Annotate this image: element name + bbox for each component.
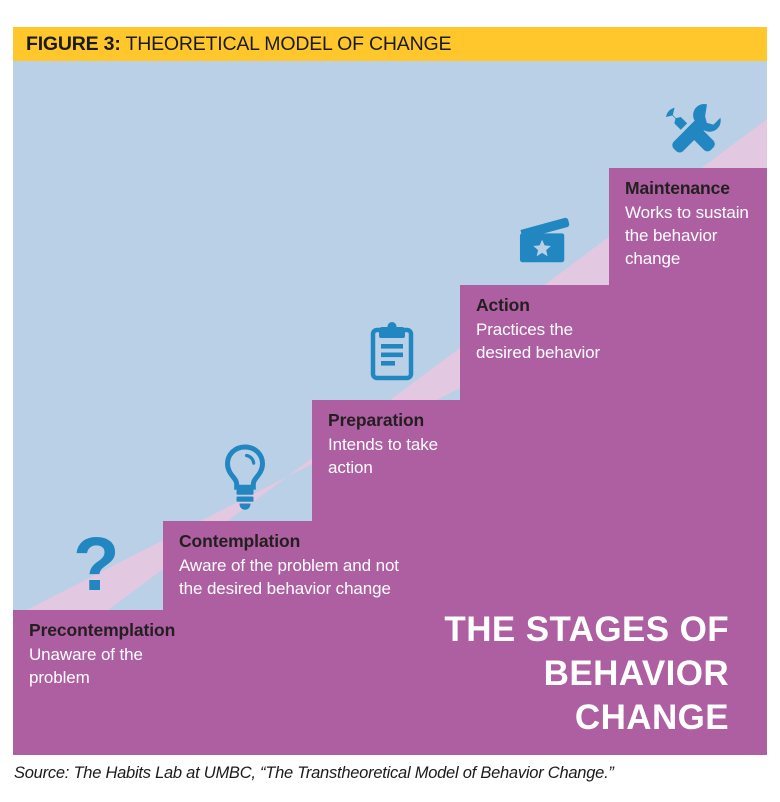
- figure-number-label: FIGURE 3:: [26, 33, 121, 55]
- step-contemplation-title: Contemplation: [179, 531, 300, 552]
- step-action-desc: Practices thedesired behavior: [476, 318, 626, 364]
- diagram-canvas: Maintenance Works to sustainthe behavior…: [13, 61, 767, 755]
- step-maintenance-desc-line-2: the behavior: [625, 226, 717, 245]
- clapperboard-star-icon: [514, 216, 576, 273]
- step-action-desc-line-1: Practices the: [476, 320, 573, 339]
- step-precontemplation-desc-line-1: Unaware of the: [29, 645, 143, 664]
- overlay-title: THE STAGES OF BEHAVIOR CHANGE: [399, 608, 729, 740]
- step-action-desc-line-2: desired behavior: [476, 343, 600, 362]
- figure-title-label: THEORETICAL MODEL OF CHANGE: [121, 33, 452, 55]
- question-mark-icon: ?: [73, 527, 119, 603]
- step-contemplation-desc-line-1: Aware of the problem and not: [179, 556, 399, 575]
- step-maintenance-desc-line-1: Works to sustain: [625, 203, 749, 222]
- source-caption: Source: The Habits Lab at UMBC, “The Tra…: [14, 764, 774, 783]
- lightbulb-icon: [222, 442, 268, 517]
- clapperboard-star-icon-svg: [514, 216, 576, 268]
- step-preparation-desc-line-2: action: [328, 458, 373, 477]
- hammer-wrench-icon: [661, 99, 723, 166]
- step-precontemplation-desc: Unaware of theproblem: [29, 643, 179, 689]
- step-preparation-desc: Intends to takeaction: [328, 433, 478, 479]
- step-preparation-desc-line-1: Intends to take: [328, 435, 438, 454]
- figure-header-bar: FIGURE 3: THEORETICAL MODEL OF CHANGE: [13, 27, 767, 61]
- hammer-wrench-icon-svg: [661, 99, 723, 161]
- clipboard-icon-svg: [368, 321, 416, 383]
- figure-container: FIGURE 3: THEORETICAL MODEL OF CHANGE Ma…: [0, 0, 780, 802]
- step-maintenance-title: Maintenance: [625, 178, 730, 199]
- figure-header-text: FIGURE 3: THEORETICAL MODEL OF CHANGE: [26, 33, 451, 56]
- step-maintenance-desc: Works to sustainthe behaviorchange: [625, 201, 765, 270]
- step-maintenance-desc-line-3: change: [625, 249, 680, 268]
- clipboard-icon: [368, 321, 416, 388]
- step-contemplation-desc-line-2: the desired behavior change: [179, 579, 391, 598]
- overlay-title-line-1: THE STAGES OF: [399, 608, 729, 652]
- step-contemplation-desc: Aware of the problem and notthe desired …: [179, 554, 459, 600]
- step-precontemplation-title: Precontemplation: [29, 620, 175, 641]
- overlay-title-line-2: BEHAVIOR CHANGE: [399, 652, 729, 740]
- lightbulb-icon-svg: [222, 442, 268, 512]
- step-action-title: Action: [476, 295, 530, 316]
- step-preparation-title: Preparation: [328, 410, 424, 431]
- step-precontemplation-desc-line-2: problem: [29, 668, 90, 687]
